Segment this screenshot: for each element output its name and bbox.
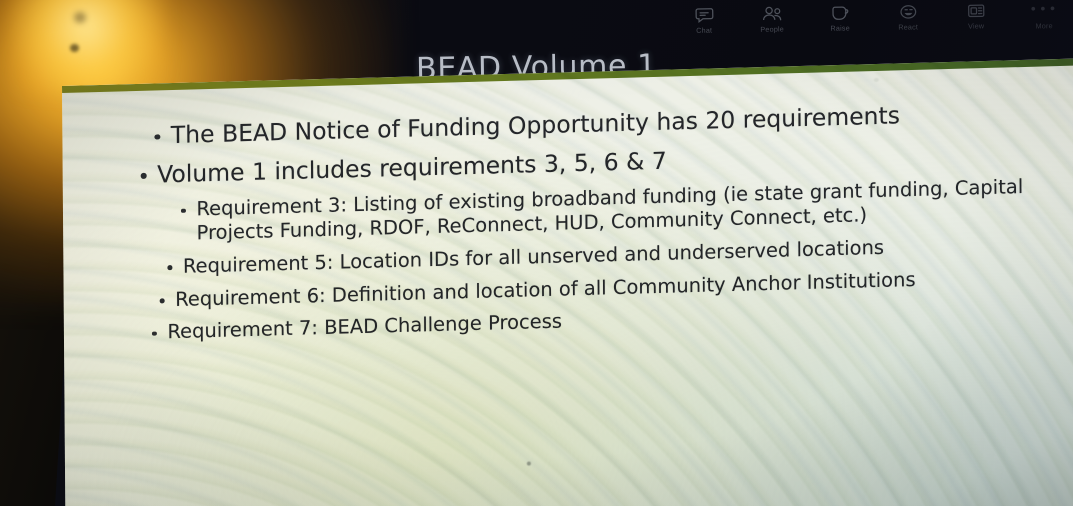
presentation-slide: The BEAD Notice of Funding Opportunity h… xyxy=(62,58,1073,506)
bullet-text: Volume 1 includes requirements 3, 5, 6 &… xyxy=(157,146,667,188)
more-ellipsis-icon: ••• xyxy=(1029,1,1058,19)
view-layout-icon xyxy=(966,2,985,19)
bullet-dot-icon xyxy=(152,331,157,336)
react-emoji-icon xyxy=(898,3,917,20)
toolbar-button-people[interactable]: People xyxy=(751,5,793,34)
raise-hand-icon xyxy=(831,4,849,21)
dust-speck xyxy=(874,78,879,82)
chat-bubble-icon xyxy=(694,7,713,24)
toolbar-button-raise[interactable]: Raise xyxy=(819,4,861,33)
dust-speck xyxy=(70,44,79,52)
toolbar-label-more: More xyxy=(1036,21,1053,30)
bullet-dot-icon xyxy=(167,265,172,270)
toolbar-button-more[interactable]: ••• More xyxy=(1023,1,1065,31)
meeting-toolbar[interactable]: Chat People Raise xyxy=(683,0,1071,36)
bullet-dot-icon xyxy=(154,134,160,140)
bullet-dot-icon xyxy=(160,298,165,303)
toolbar-label-people: People xyxy=(760,24,784,33)
toolbar-label-chat: Chat xyxy=(696,26,712,35)
bullet-dot-icon xyxy=(181,209,186,214)
toolbar-button-chat[interactable]: Chat xyxy=(683,6,725,35)
people-icon xyxy=(761,5,782,22)
photographed-screen: Chat People Raise xyxy=(0,0,1073,506)
toolbar-button-react[interactable]: React xyxy=(887,3,929,32)
slide-body: The BEAD Notice of Funding Opportunity h… xyxy=(140,97,1071,354)
dust-speck xyxy=(74,12,86,23)
toolbar-button-view[interactable]: View xyxy=(955,2,997,31)
dust-speck xyxy=(527,461,531,465)
bullet-dot-icon xyxy=(141,173,147,179)
bullet-text: Requirement 7: BEAD Challenge Process xyxy=(167,310,562,344)
toolbar-label-react: React xyxy=(898,22,918,31)
toolbar-label-raise: Raise xyxy=(830,23,850,32)
toolbar-label-view: View xyxy=(968,21,984,30)
